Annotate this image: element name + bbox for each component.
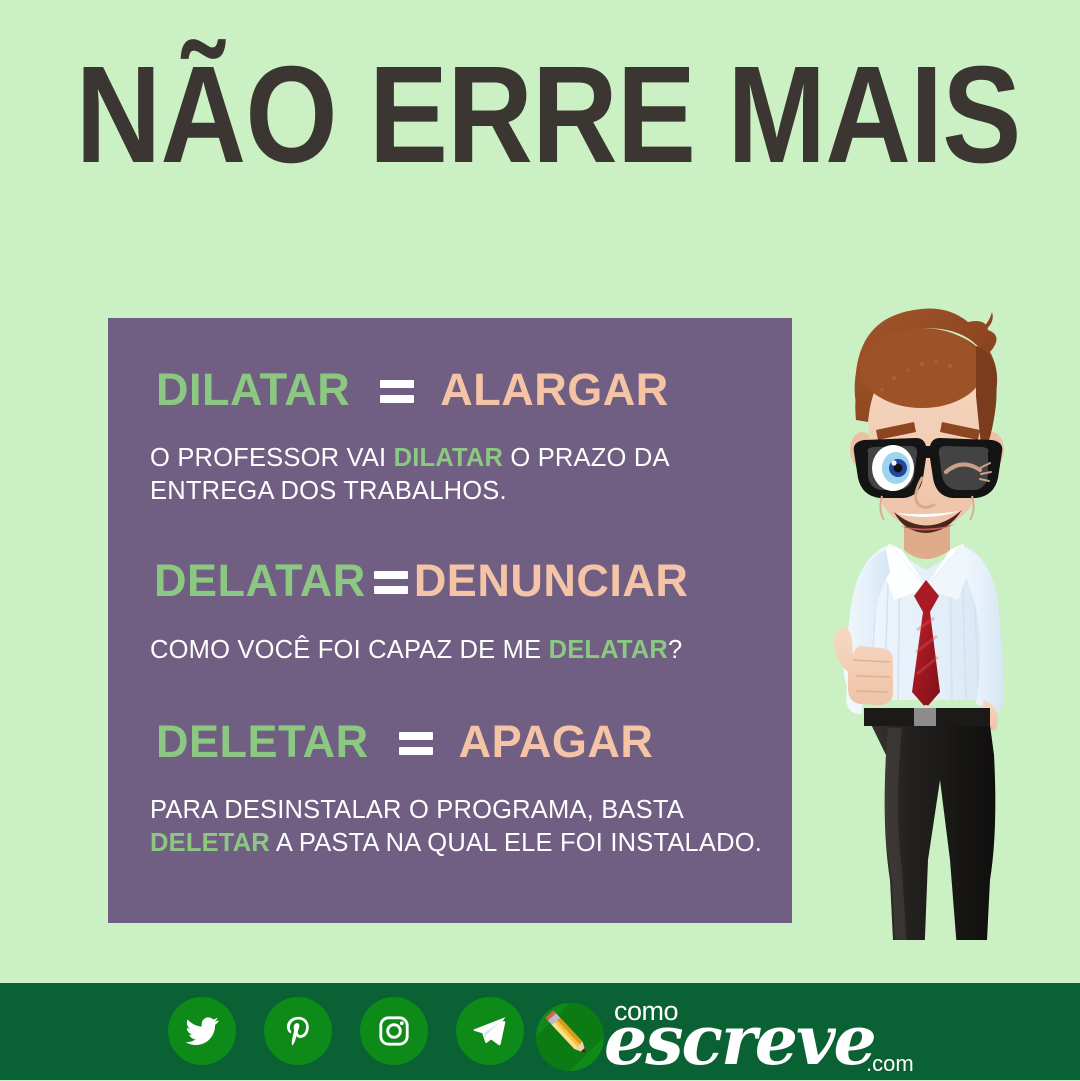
logo-text-com: .com xyxy=(866,1051,914,1077)
definition-word: DELETAR xyxy=(156,716,369,768)
site-logo[interactable]: como escreve .com xyxy=(536,991,956,1077)
definition-entry: DELETAR APAGAR PARA DESINSTALAR O PROGRA… xyxy=(108,716,792,860)
definition-entry: DILATAR ALARGAR O PROFESSOR VAI DILATAR … xyxy=(108,364,792,508)
definition-synonym: DENUNCIAR xyxy=(414,555,689,607)
pinterest-icon xyxy=(281,1014,315,1048)
definitions-panel: DILATAR ALARGAR O PROFESSOR VAI DILATAR … xyxy=(108,318,792,923)
definition-headline: DILATAR ALARGAR xyxy=(108,364,792,416)
definition-example: O PROFESSOR VAI DILATAR O PRAZO DA ENTRE… xyxy=(108,442,792,508)
equals-icon xyxy=(380,375,414,405)
definition-example: PARA DESINSTALAR O PROGRAMA, BASTA DELET… xyxy=(108,794,792,860)
twitter-icon xyxy=(184,1013,220,1049)
social-link-pinterest[interactable] xyxy=(264,997,332,1065)
pencil-icon xyxy=(536,1003,604,1071)
social-link-twitter[interactable] xyxy=(168,997,236,1065)
definition-synonym: ALARGAR xyxy=(440,364,668,416)
equals-icon xyxy=(374,566,408,596)
social-links xyxy=(168,997,524,1065)
example-highlight: DILATAR xyxy=(394,444,504,472)
definition-word: DELATAR xyxy=(154,555,366,607)
example-highlight: DELETAR xyxy=(150,829,270,857)
equals-icon xyxy=(399,727,433,757)
example-text-part: COMO VOCÊ FOI CAPAZ DE ME xyxy=(150,636,549,664)
definition-headline: DELETAR APAGAR xyxy=(108,716,792,768)
poster-canvas: NÃO ERRE MAIS DILATAR ALARGAR O PROFESSO… xyxy=(0,0,1080,1080)
social-link-instagram[interactable] xyxy=(360,997,428,1065)
instagram-icon xyxy=(376,1013,412,1049)
example-highlight: DELATAR xyxy=(549,636,668,664)
example-text-part: O PROFESSOR VAI xyxy=(150,444,394,472)
example-text-part: PARA DESINSTALAR O PROGRAMA, BASTA xyxy=(150,796,683,824)
footer-bar: como escreve .com xyxy=(0,983,1080,1080)
page-title: NÃO ERRE MAIS xyxy=(76,46,1005,184)
definition-entry: DELATAR DENUNCIAR COMO VOCÊ FOI CAPAZ DE… xyxy=(108,555,792,667)
example-text-part: ? xyxy=(668,636,682,664)
logo-text-escreve: escreve xyxy=(604,1007,875,1075)
example-text-part: A PASTA NA QUAL ELE FOI INSTALADO. xyxy=(270,829,762,857)
telegram-icon xyxy=(471,1012,509,1050)
definition-example: COMO VOCÊ FOI CAPAZ DE ME DELATAR? xyxy=(108,634,792,667)
definition-synonym: APAGAR xyxy=(459,716,654,768)
definition-headline: DELATAR DENUNCIAR xyxy=(108,555,792,607)
definition-word: DILATAR xyxy=(156,364,350,416)
mascot-illustration xyxy=(790,300,1080,940)
social-link-telegram[interactable] xyxy=(456,997,524,1065)
